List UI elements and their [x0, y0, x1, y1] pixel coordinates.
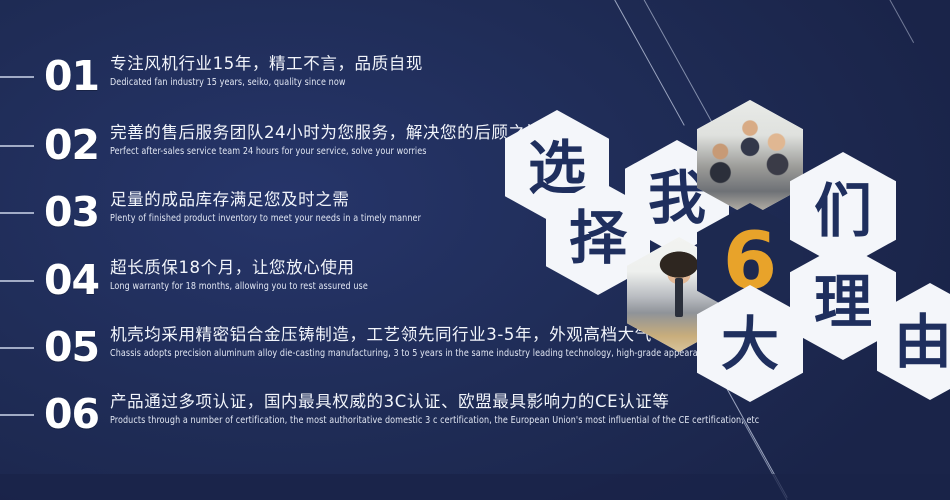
reasons-list: 01 专注风机行业15年，精工不言，品质自现 Dedicated fan ind…	[0, 0, 620, 500]
hex-glyph: 理	[814, 273, 872, 331]
hex-cell-men: 们	[790, 152, 896, 269]
reason-text: 产品通过多项认证，国内最具权威的3C认证、欧盟最具影响力的CE认证等 Produ…	[110, 392, 801, 427]
diagonal-line-2	[636, 0, 764, 216]
reason-headline-cn: 专注风机行业15年，精工不言，品质自现	[110, 54, 423, 74]
bullet-dash-icon	[0, 280, 34, 282]
hex-glyph: 们	[814, 182, 872, 240]
reason-number: 02	[44, 125, 99, 166]
reason-subtitle-en: Long warranty for 18 months, allowing yo…	[110, 281, 368, 293]
reason-subtitle-en: Chassis adopts precision aluminum alloy …	[110, 348, 764, 360]
reason-subtitle-en: Plenty of finished product inventory to …	[110, 213, 421, 225]
hex-cell-you: 由	[877, 283, 950, 400]
reason-item-3: 03 足量的成品库存满足您及时之需 Plenty of finished pro…	[0, 190, 441, 233]
reason-headline-cn: 产品通过多项认证，国内最具权威的3C认证、欧盟最具影响力的CE认证等	[110, 392, 801, 412]
hex-cell-photo-team	[697, 100, 803, 217]
reason-item-2: 02 完善的售后服务团队24小时为您服务，解决您的后顾之忧 Perfect af…	[0, 123, 543, 166]
business-team-photo	[697, 100, 803, 217]
reason-item-6: 06 产品通过多项认证，国内最具权威的3C认证、欧盟最具影响力的CE认证等 Pr…	[0, 392, 801, 435]
reason-number: 01	[44, 56, 99, 97]
reason-number: 05	[44, 327, 99, 368]
bullet-dash-icon	[0, 347, 34, 349]
reason-subtitle-en: Dedicated fan industry 15 years, seiko, …	[110, 77, 404, 89]
diagonal-line-6	[884, 0, 914, 43]
reason-headline-cn: 完善的售后服务团队24小时为您服务，解决您的后顾之忧	[110, 123, 543, 143]
bullet-dash-icon	[0, 76, 34, 78]
reason-headline-cn: 超长质保18个月，让您放心使用	[110, 258, 384, 278]
reason-headline-cn: 足量的成品库存满足您及时之需	[110, 190, 441, 210]
reason-text: 机壳均采用精密铝合金压铸制造，工艺领先同行业3-5年，外观高档大气 Chassi…	[110, 325, 806, 360]
reason-text: 超长质保18个月，让您放心使用 Long warranty for 18 mon…	[110, 258, 384, 293]
poster-canvas: 01 专注风机行业15年，精工不言，品质自现 Dedicated fan ind…	[0, 0, 950, 500]
reason-number: 03	[44, 192, 99, 233]
reason-subtitle-en: Products through a number of certificati…	[110, 415, 759, 427]
reason-subtitle-en: Perfect after-sales service team 24 hour…	[110, 146, 517, 158]
hex-glyph: 由	[894, 313, 950, 371]
reason-text: 足量的成品库存满足您及时之需 Plenty of finished produc…	[110, 190, 441, 225]
bullet-dash-icon	[0, 145, 34, 147]
reason-text: 专注风机行业15年，精工不言，品质自现 Dedicated fan indust…	[110, 54, 423, 89]
reason-headline-cn: 机壳均采用精密铝合金压铸制造，工艺领先同行业3-5年，外观高档大气	[110, 325, 806, 345]
hex-glyph-six: 6	[723, 223, 777, 301]
hex-cell-wo: 我	[625, 140, 729, 255]
reason-text: 完善的售后服务团队24小时为您服务，解决您的后顾之忧 Perfect after…	[110, 123, 543, 158]
reason-item-5: 05 机壳均采用精密铝合金压铸制造，工艺领先同行业3-5年，外观高档大气 Cha…	[0, 325, 806, 368]
hex-glyph: 我	[648, 169, 706, 227]
hex-cell-six: 6	[697, 203, 803, 320]
bullet-dash-icon	[0, 414, 34, 416]
diagonal-line-1	[611, 0, 685, 126]
bullet-dash-icon	[0, 212, 34, 214]
reason-item-1: 01 专注风机行业15年，精工不言，品质自现 Dedicated fan ind…	[0, 54, 423, 97]
reason-number: 04	[44, 260, 99, 301]
reason-number: 06	[44, 394, 99, 435]
reason-item-4: 04 超长质保18个月，让您放心使用 Long warranty for 18 …	[0, 258, 384, 301]
